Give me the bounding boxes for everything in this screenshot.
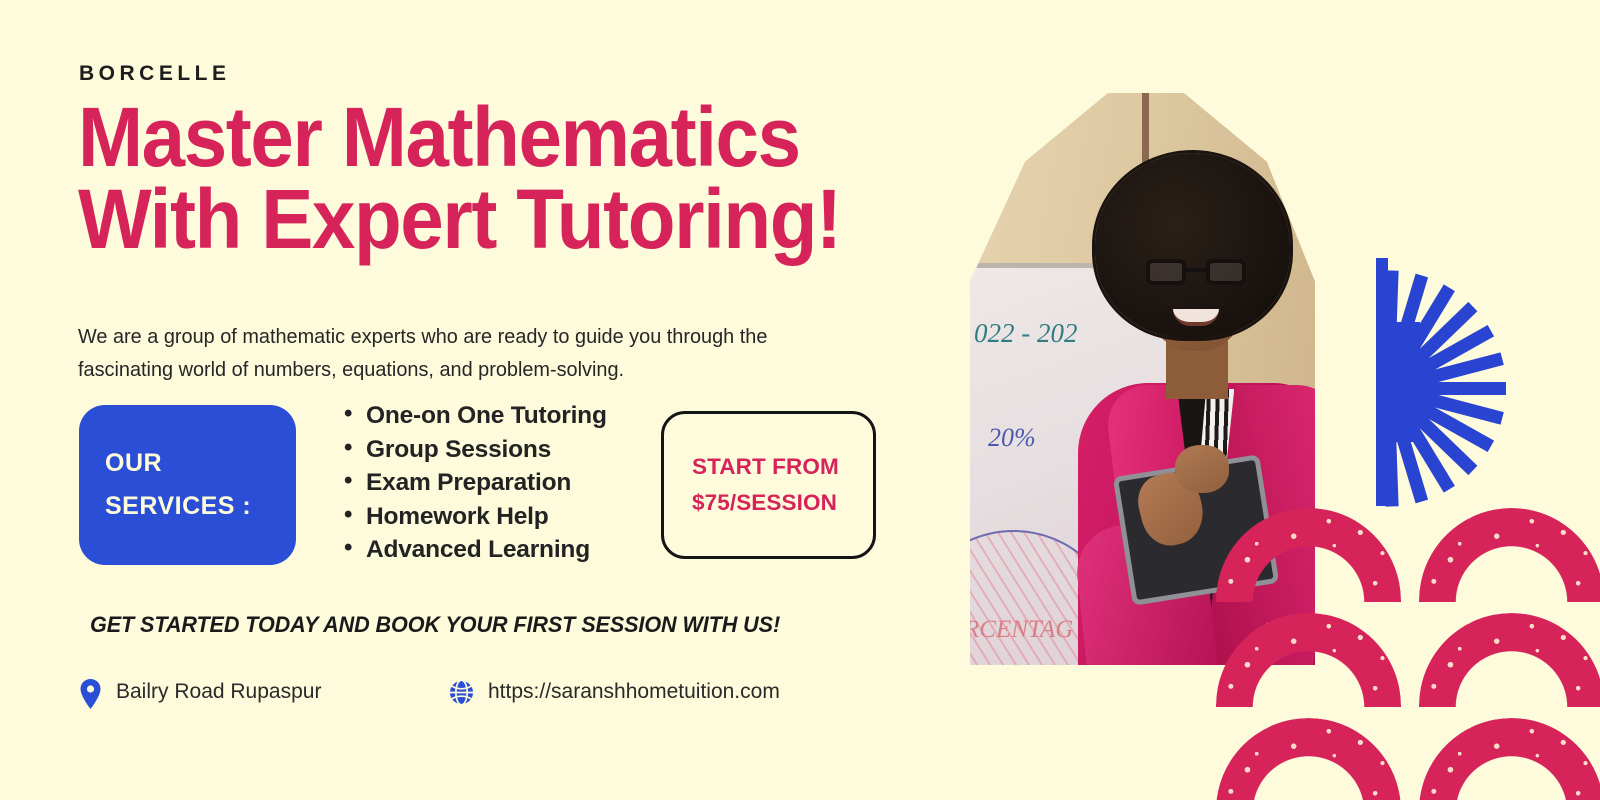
arch-shape — [1419, 613, 1600, 707]
price-line-2: $75/SESSION — [692, 485, 873, 521]
services-label-line-1: OUR — [105, 442, 296, 485]
globe-icon — [448, 679, 475, 711]
arch-shape — [1216, 508, 1401, 602]
blue-sunburst-icon — [1388, 258, 1600, 506]
pink-arch-pattern — [1216, 508, 1600, 800]
intro-paragraph: We are a group of mathematic experts who… — [78, 320, 844, 386]
services-label-box: OUR SERVICES : — [79, 405, 296, 565]
arch-shape — [1216, 613, 1401, 707]
list-item: Exam Preparation — [344, 466, 607, 500]
price-line-1: START FROM — [692, 449, 873, 485]
list-item: Homework Help — [344, 500, 607, 534]
list-item: Advanced Learning — [344, 533, 607, 567]
contact-website[interactable]: https://saranshhometuition.com — [448, 678, 778, 711]
headline-line-2: With Expert Tutoring! — [78, 178, 915, 260]
list-item: One-on One Tutoring — [344, 399, 607, 433]
arch-shape — [1419, 508, 1600, 602]
price-badge: START FROM $75/SESSION — [661, 411, 876, 559]
whiteboard-text-percentage: RCENTAG — [970, 616, 1073, 644]
website-text[interactable]: https://saranshhometuition.com — [488, 678, 780, 707]
whiteboard-text-year: 022 - 202 — [974, 318, 1078, 349]
contact-address: Bailry Road Rupaspur — [78, 678, 321, 714]
arch-shape — [1216, 718, 1401, 800]
services-label-line-2: SERVICES : — [105, 485, 296, 528]
headline-line-1: Master Mathematics — [78, 90, 800, 184]
services-list: One-on One Tutoring Group Sessions Exam … — [344, 399, 607, 567]
whiteboard-text-pct20: 20% — [988, 423, 1036, 453]
photo-hand-upper — [1175, 445, 1229, 493]
call-to-action-text: GET STARTED TODAY AND BOOK YOUR FIRST SE… — [90, 612, 780, 638]
arch-shape — [1419, 718, 1600, 800]
page-title: Master Mathematics With Expert Tutoring! — [78, 96, 915, 261]
address-text: Bailry Road Rupaspur — [116, 678, 321, 707]
location-pin-icon — [78, 679, 103, 714]
brand-name: BORCELLE — [79, 62, 231, 86]
list-item: Group Sessions — [344, 433, 607, 467]
poster-canvas: BORCELLE Master Mathematics With Expert … — [0, 0, 1600, 800]
photo-glasses — [1146, 259, 1246, 285]
